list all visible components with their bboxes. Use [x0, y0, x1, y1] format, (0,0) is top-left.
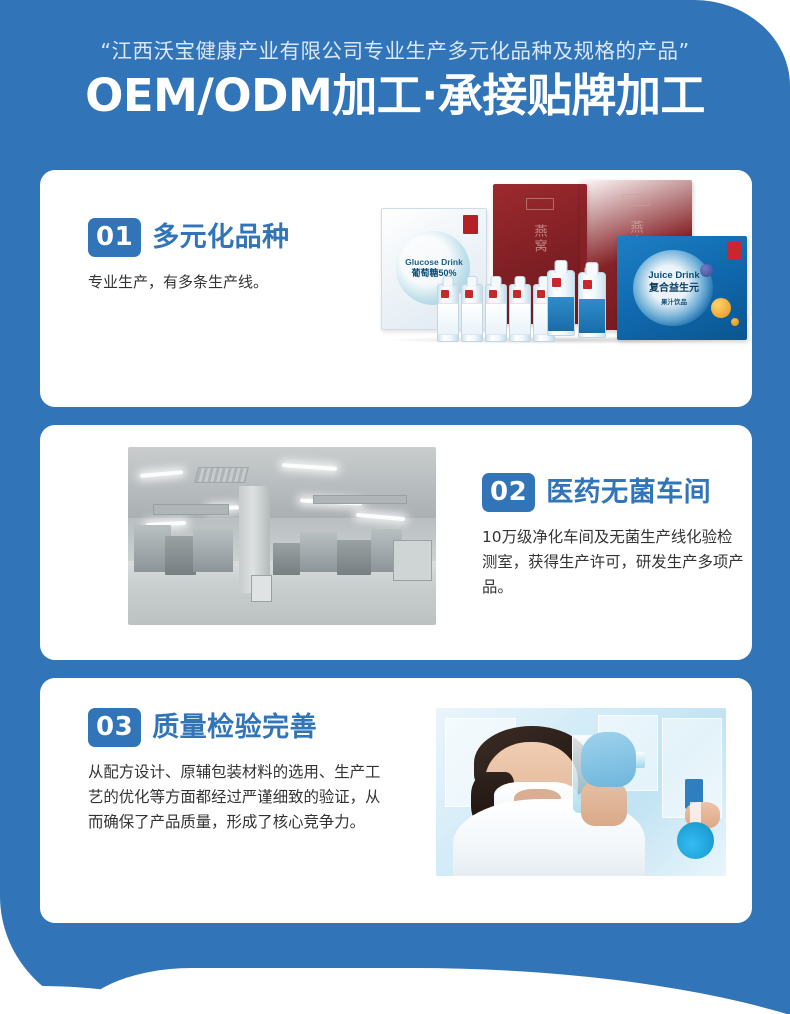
lab-technician-photo: [436, 708, 726, 876]
production-machine: [273, 543, 301, 575]
card-02-heading-row: 02 医药无菌车间: [482, 473, 744, 512]
card-number-badge-03: 03: [88, 708, 141, 747]
bottle-label-band: [579, 299, 605, 333]
brand-crest-icon: [526, 198, 554, 210]
glucose-bottle: [509, 284, 531, 342]
wall-cabinet: [393, 540, 432, 581]
bottle-brand-mark: [552, 278, 561, 287]
card-title-03: 质量检验完善: [152, 713, 317, 743]
production-machine: [300, 532, 337, 571]
overhead-duct: [153, 504, 229, 515]
red-box-label-1: 燕窝: [531, 224, 550, 254]
juice-cn-label: 复合益生元: [649, 283, 699, 294]
product-lineup-photo: 燕窝 燕窝 Glucose Drink 葡萄糖50%: [375, 178, 752, 364]
bottle-label-band: [462, 303, 482, 335]
card-description-03: 从配方设计、原辅包装材料的选用、生产工艺的优化等方面都经过严谨细致的验证，从而确…: [88, 760, 388, 835]
feature-card-01: 燕窝 燕窝 Glucose Drink 葡萄糖50%: [40, 170, 752, 407]
bottle-brand-mark: [537, 290, 545, 298]
bottle-label-band: [486, 303, 506, 335]
card-description-02: 10万级净化车间及无菌生产线化验检测室，获得生产许可，研发生产多项产品。: [482, 525, 744, 600]
juice-bottle: [547, 270, 575, 336]
molecule-ball-orange: [711, 298, 731, 318]
glucose-bottle: [437, 284, 459, 342]
card-title-02: 医药无菌车间: [546, 478, 711, 508]
card-number-badge-01: 01: [88, 218, 141, 257]
juice-carton-label: Juice Drink 复合益生元 果汁饮品: [635, 270, 713, 308]
marketing-page: “江西沃宝健康产业有限公司专业生产多元化品种及规格的产品” OEM/ODM加工·…: [0, 0, 790, 1014]
bottle-label-band: [510, 303, 530, 335]
card-03-text-block: 03 质量检验完善 从配方设计、原辅包装材料的选用、生产工艺的优化等方面都经过严…: [88, 708, 388, 835]
production-machine: [337, 540, 371, 576]
bottle-brand-mark: [513, 290, 521, 298]
technician-arm: [581, 782, 627, 826]
bottle-brand-mark: [583, 280, 592, 289]
card-03-heading-row: 03 质量检验完善: [88, 708, 388, 747]
page-header: “江西沃宝健康产业有限公司专业生产多元化品种及规格的产品” OEM/ODM加工·…: [0, 0, 790, 121]
production-machine: [193, 529, 233, 572]
card-01-heading-row: 01 多元化品种: [88, 218, 378, 257]
juice-bottle: [578, 272, 606, 338]
brand-tag-icon: [463, 215, 478, 234]
molecule-ball-small: [731, 318, 739, 326]
floor-panel: [251, 575, 271, 602]
card-title-01: 多元化品种: [152, 223, 290, 253]
page-title: OEM/ODM加工·承接贴牌加工: [0, 71, 790, 121]
card-number-badge-02: 02: [482, 473, 535, 512]
sterile-workshop-photo: [128, 447, 436, 625]
header-subtitle: “江西沃宝健康产业有限公司专业生产多元化品种及规格的产品”: [0, 34, 790, 64]
glucose-bottle: [461, 284, 483, 342]
bottle-label-band: [548, 297, 574, 331]
bottle-label-band: [438, 303, 458, 335]
bottle-brand-mark: [465, 290, 473, 298]
brand-tag-icon: [727, 242, 741, 259]
molecule-ball-blue: [700, 264, 713, 277]
bottle-brand-mark: [489, 290, 497, 298]
card-02-text-block: 02 医药无菌车间 10万级净化车间及无菌生产线化验检测室，获得生产许可，研发生…: [482, 473, 744, 600]
production-machine: [165, 536, 196, 575]
overhead-duct: [313, 495, 407, 504]
ceiling-vent-grille: [194, 467, 249, 483]
juice-en-label: Juice Drink: [648, 270, 699, 281]
card-description-01: 专业生产，有多条生产线。: [88, 270, 378, 294]
blue-glove: [581, 732, 636, 787]
juice-sub-label: 果汁饮品: [661, 299, 687, 306]
card-01-text-block: 01 多元化品种 专业生产，有多条生产线。: [88, 218, 378, 294]
glucose-bottle: [485, 284, 507, 342]
glucose-en-label: Glucose Drink: [405, 257, 463, 267]
brand-crest-icon: [622, 194, 650, 206]
bottle-brand-mark: [441, 290, 449, 298]
juice-drink-carton: Juice Drink 复合益生元 果汁饮品: [617, 236, 747, 340]
feature-card-02: 02 医药无菌车间 10万级净化车间及无菌生产线化验检测室，获得生产许可，研发生…: [40, 425, 752, 660]
feature-card-03: 03 质量检验完善 从配方设计、原辅包装材料的选用、生产工艺的优化等方面都经过严…: [40, 678, 752, 923]
